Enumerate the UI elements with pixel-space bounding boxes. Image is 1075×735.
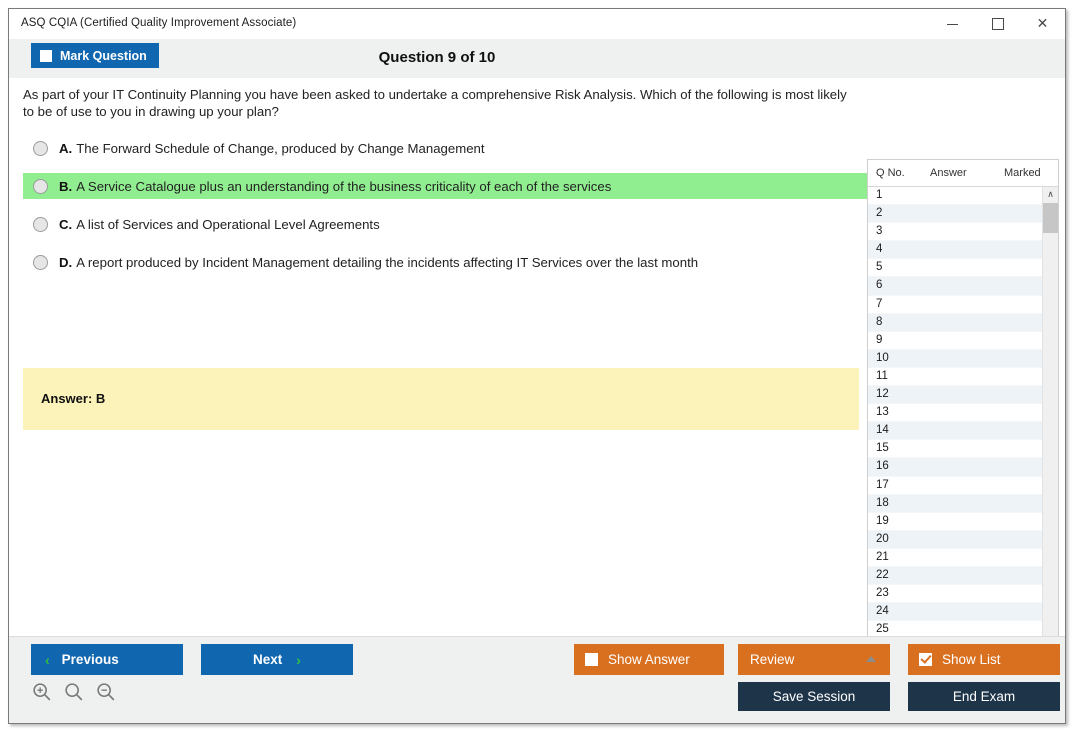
option-c-text: A list of Services and Operational Level…: [76, 217, 379, 232]
option-c[interactable]: C. A list of Services and Operational Le…: [23, 211, 861, 237]
radio-a[interactable]: [33, 141, 48, 156]
zoom-in-icon[interactable]: [31, 681, 53, 703]
window-title: ASQ CQIA (Certified Quality Improvement …: [21, 17, 296, 29]
row-question-number: 18: [876, 497, 889, 509]
row-question-number: 21: [876, 551, 889, 563]
chevron-left-icon: ‹: [45, 653, 50, 667]
question-list-row[interactable]: 10: [868, 350, 1043, 368]
option-c-letter: C.: [59, 217, 72, 232]
row-question-number: 3: [876, 225, 882, 237]
question-header-bar: Mark Question Question 9 of 10: [9, 40, 1065, 78]
page-title: Question 9 of 10: [9, 49, 1065, 66]
row-question-number: 19: [876, 515, 889, 527]
answer-text: Answer: B: [41, 391, 105, 406]
question-list-row[interactable]: 7: [868, 296, 1043, 314]
question-list-row[interactable]: 15: [868, 440, 1043, 458]
row-question-number: 22: [876, 569, 889, 581]
row-question-number: 4: [876, 243, 882, 255]
question-list-row[interactable]: 24: [868, 603, 1043, 621]
end-exam-label: End Exam: [953, 689, 1015, 704]
zoom-controls: [31, 681, 117, 703]
question-list-scrollbar[interactable]: ∧ ∨: [1042, 187, 1058, 699]
question-list-row[interactable]: 8: [868, 314, 1043, 332]
question-list-row[interactable]: 21: [868, 549, 1043, 567]
option-a-text: The Forward Schedule of Change, produced…: [76, 141, 484, 156]
option-b[interactable]: B. A Service Catalogue plus an understan…: [23, 173, 867, 199]
row-question-number: 23: [876, 587, 889, 599]
zoom-out-icon[interactable]: [95, 681, 117, 703]
show-list-button[interactable]: Show List: [908, 644, 1060, 675]
next-label: Next: [253, 652, 282, 667]
row-question-number: 14: [876, 424, 889, 436]
option-a-letter: A.: [59, 141, 72, 156]
option-a[interactable]: A. The Forward Schedule of Change, produ…: [23, 135, 861, 161]
next-button[interactable]: Next ›: [201, 644, 353, 675]
scroll-up-icon[interactable]: ∧: [1043, 187, 1058, 202]
minimize-icon[interactable]: [930, 9, 975, 39]
show-list-label: Show List: [942, 652, 1001, 667]
row-question-number: 10: [876, 352, 889, 364]
question-list-row[interactable]: 6: [868, 277, 1043, 295]
option-b-letter: B.: [59, 179, 72, 194]
row-question-number: 11: [876, 370, 888, 382]
close-icon[interactable]: ✕: [1020, 9, 1065, 39]
title-bar: ASQ CQIA (Certified Quality Improvement …: [9, 9, 1065, 40]
window-controls: ✕: [930, 9, 1065, 39]
column-header-qno: Q No.: [876, 167, 905, 179]
question-list-row[interactable]: 23: [868, 585, 1043, 603]
show-answer-button[interactable]: Show Answer: [574, 644, 724, 675]
question-list-row[interactable]: 17: [868, 477, 1043, 495]
question-list-row[interactable]: 14: [868, 422, 1043, 440]
row-question-number: 20: [876, 533, 889, 545]
row-question-number: 13: [876, 406, 889, 418]
row-question-number: 7: [876, 298, 882, 310]
row-question-number: 12: [876, 388, 889, 400]
question-list-row[interactable]: 20: [868, 531, 1043, 549]
save-session-button[interactable]: Save Session: [738, 682, 890, 711]
option-d[interactable]: D. A report produced by Incident Managem…: [23, 249, 861, 275]
end-exam-button[interactable]: End Exam: [908, 682, 1060, 711]
zoom-search-icon[interactable]: [63, 681, 85, 703]
radio-c[interactable]: [33, 217, 48, 232]
show-list-checkbox[interactable]: [919, 653, 932, 666]
answer-panel: Answer: B: [23, 368, 859, 430]
review-label: Review: [750, 652, 794, 667]
option-d-letter: D.: [59, 255, 72, 270]
question-list-row[interactable]: 3: [868, 223, 1043, 241]
question-list-row[interactable]: 1: [868, 187, 1043, 205]
question-list-row[interactable]: 12: [868, 386, 1043, 404]
row-question-number: 24: [876, 605, 889, 617]
question-list-row[interactable]: 5: [868, 259, 1043, 277]
row-question-number: 5: [876, 261, 882, 273]
radio-b[interactable]: [33, 179, 48, 194]
column-header-marked: Marked: [1004, 167, 1041, 179]
question-body: As part of your IT Continuity Planning y…: [9, 78, 1065, 668]
scrollbar-thumb[interactable]: [1043, 203, 1058, 233]
previous-label: Previous: [62, 652, 119, 667]
option-d-text: A report produced by Incident Management…: [76, 255, 698, 270]
previous-button[interactable]: ‹ Previous: [31, 644, 183, 675]
save-session-label: Save Session: [773, 689, 856, 704]
row-question-number: 2: [876, 207, 882, 219]
show-answer-checkbox[interactable]: [585, 653, 598, 666]
maximize-icon[interactable]: [975, 9, 1020, 39]
row-question-number: 16: [876, 460, 889, 472]
answer-options: A. The Forward Schedule of Change, produ…: [23, 135, 861, 287]
radio-d[interactable]: [33, 255, 48, 270]
question-list-row[interactable]: 22: [868, 567, 1043, 585]
chevron-right-icon: ›: [296, 653, 301, 667]
exam-window: ASQ CQIA (Certified Quality Improvement …: [8, 8, 1066, 724]
row-question-number: 17: [876, 479, 889, 491]
option-b-text: A Service Catalogue plus an understandin…: [76, 179, 611, 194]
row-question-number: 9: [876, 334, 882, 346]
row-question-number: 15: [876, 442, 889, 454]
review-dropdown[interactable]: Review: [738, 644, 890, 675]
row-question-number: 1: [876, 189, 882, 201]
question-list-header: Q No. Answer Marked: [868, 160, 1058, 187]
question-list-row[interactable]: 13: [868, 404, 1043, 422]
question-list-row[interactable]: 11: [868, 368, 1043, 386]
column-header-answer: Answer: [930, 167, 967, 179]
question-text: As part of your IT Continuity Planning y…: [23, 86, 861, 120]
row-question-number: 25: [876, 623, 889, 635]
question-list-rows[interactable]: 1234567891011121314151617181920212223242…: [868, 187, 1043, 699]
row-question-number: 6: [876, 279, 882, 291]
question-list-panel: Q No. Answer Marked 12345678910111213141…: [867, 159, 1059, 700]
chevron-up-icon: [866, 656, 876, 662]
question-list-row[interactable]: 2: [868, 205, 1043, 223]
show-answer-label: Show Answer: [608, 652, 690, 667]
row-question-number: 8: [876, 316, 882, 328]
question-list-row[interactable]: 18: [868, 495, 1043, 513]
question-list-row[interactable]: 16: [868, 458, 1043, 476]
question-list-row[interactable]: 19: [868, 513, 1043, 531]
question-list-row[interactable]: 9: [868, 332, 1043, 350]
footer-toolbar: ‹ Previous Next › Show Answer Review Sho…: [9, 636, 1065, 723]
question-list-row[interactable]: 4: [868, 241, 1043, 259]
